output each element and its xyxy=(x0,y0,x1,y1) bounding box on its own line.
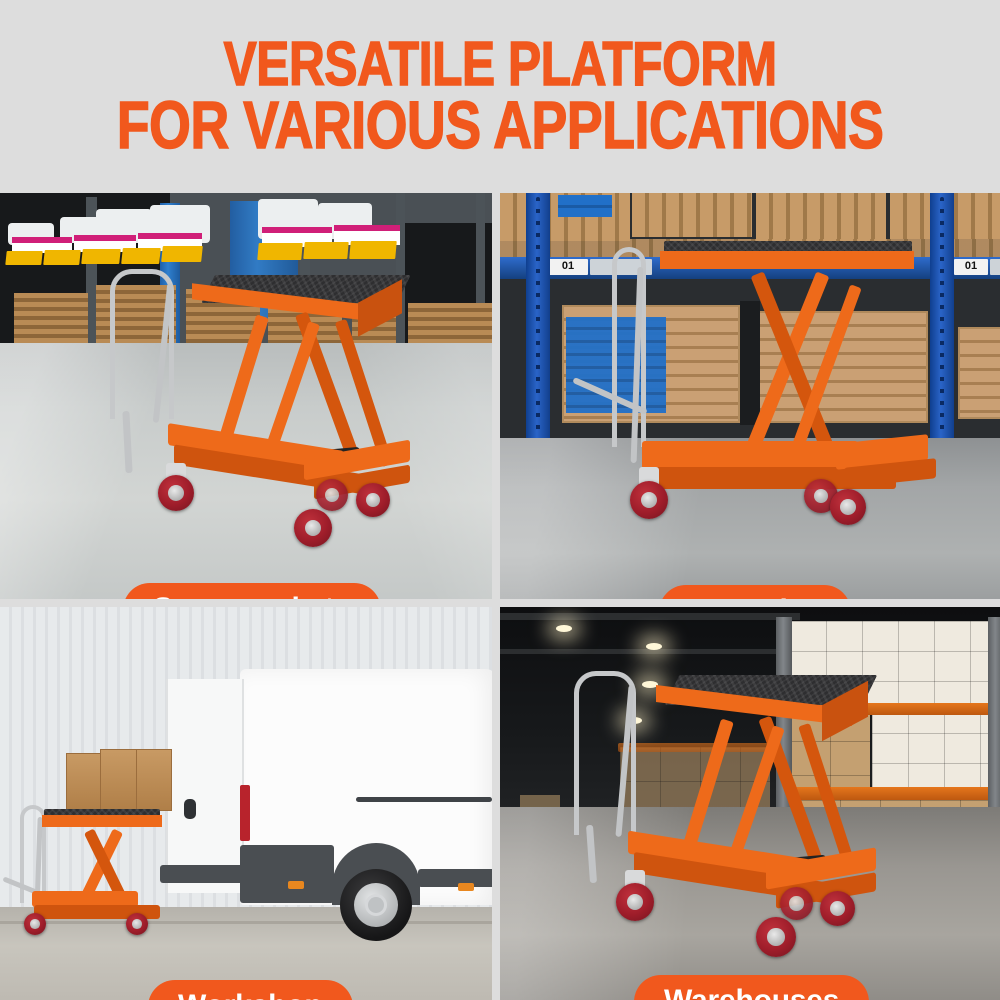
van-side-trim xyxy=(356,797,492,802)
scissor-lift-cart xyxy=(608,241,938,551)
van-taillight xyxy=(240,785,250,841)
workshop-scene xyxy=(0,607,492,1000)
headline-line-1: VERSATILE PLATFORM xyxy=(117,35,884,95)
caster-wheel-rear-left xyxy=(316,479,348,511)
warehouse-scene xyxy=(500,607,1000,1000)
van-side-marker-2 xyxy=(458,883,474,891)
panel-factories[interactable]: 01 01 xyxy=(496,193,1000,603)
stored-pallet xyxy=(632,193,752,237)
badge-workshop[interactable]: Workshop xyxy=(148,980,353,1000)
caster-wheel-front-left xyxy=(616,883,654,921)
caster-hub xyxy=(840,499,856,515)
caster-wheel-rear-right xyxy=(356,483,390,517)
shelf-bin xyxy=(303,242,348,259)
caster-wheel-front-right xyxy=(756,917,796,957)
panel-workshop[interactable]: Workshop xyxy=(0,603,496,1000)
application-panel-grid: Supermarkets 01 01 xyxy=(0,193,1000,1000)
scissor-lift-cart xyxy=(4,803,174,935)
ceiling-beam-2 xyxy=(500,649,800,654)
page-title: VERSATILE PLATFORM FOR VARIOUS APPLICATI… xyxy=(117,35,884,159)
panel-warehouses[interactable]: Warehouses xyxy=(496,603,1000,1000)
van-rear-door xyxy=(166,679,244,893)
base-frame xyxy=(642,441,858,469)
rack-label-01-left: 01 xyxy=(548,259,588,275)
caster-wheel-rear xyxy=(126,913,148,935)
badge-factories[interactable]: Factories xyxy=(659,585,851,603)
platform-side xyxy=(42,815,162,827)
shelf-bin xyxy=(161,246,203,262)
shelf-bin xyxy=(43,250,81,265)
van-side-skirt xyxy=(418,869,492,887)
factory-scene: 01 01 xyxy=(500,193,1000,599)
headline-line-2: FOR VARIOUS APPLICATIONS xyxy=(117,94,884,158)
badge-supermarkets[interactable]: Supermarkets xyxy=(123,583,381,603)
caster-hub xyxy=(168,485,184,501)
panel-supermarkets[interactable]: Supermarkets xyxy=(0,193,496,603)
caster-wheel-front-left xyxy=(158,475,194,511)
blue-wrapped-goods xyxy=(558,195,612,217)
van-rear-bumper xyxy=(240,845,334,903)
ceiling-beam xyxy=(500,613,800,620)
high-bay-light xyxy=(646,643,662,650)
badge-warehouses[interactable]: Warehouses xyxy=(634,975,869,1000)
scissor-lift-cart xyxy=(564,661,884,961)
carton-stack-white xyxy=(872,703,1000,793)
caster-hub xyxy=(132,919,142,929)
rack-label-blank-right xyxy=(990,259,1000,275)
supermarket-scene xyxy=(0,193,492,599)
stored-pallet xyxy=(756,193,886,243)
wooden-crate-edge xyxy=(958,327,1000,419)
cardboard-box-2 xyxy=(100,749,172,811)
platform-side xyxy=(660,251,914,269)
caster-wheel-front xyxy=(630,481,668,519)
rack-upright-left xyxy=(526,193,550,438)
caster-hub xyxy=(325,488,339,502)
van-door-handle xyxy=(184,799,196,819)
caster-hub xyxy=(767,928,785,946)
caster-hub xyxy=(30,919,40,929)
caster-wheel-front-right xyxy=(294,509,332,547)
high-bay-light xyxy=(556,625,572,632)
caster-wheel-rear-right xyxy=(820,891,855,926)
shelf-bin xyxy=(257,243,302,260)
handle-lower-strut xyxy=(122,411,132,473)
caster-wheel-rear xyxy=(830,489,866,525)
caster-hub xyxy=(789,896,804,911)
van-side-marker-1 xyxy=(288,881,304,889)
caster-wheel-front xyxy=(24,913,46,935)
caster-wheel-rear-left xyxy=(780,887,813,920)
scissor-lift-cart xyxy=(108,261,408,551)
shelf-bin xyxy=(349,241,397,259)
shelf-bin xyxy=(5,251,42,265)
van-wheel-rim xyxy=(354,883,398,927)
rack-label-01-right: 01 xyxy=(954,259,988,275)
header-banner: VERSATILE PLATFORM FOR VARIOUS APPLICATI… xyxy=(0,0,1000,193)
